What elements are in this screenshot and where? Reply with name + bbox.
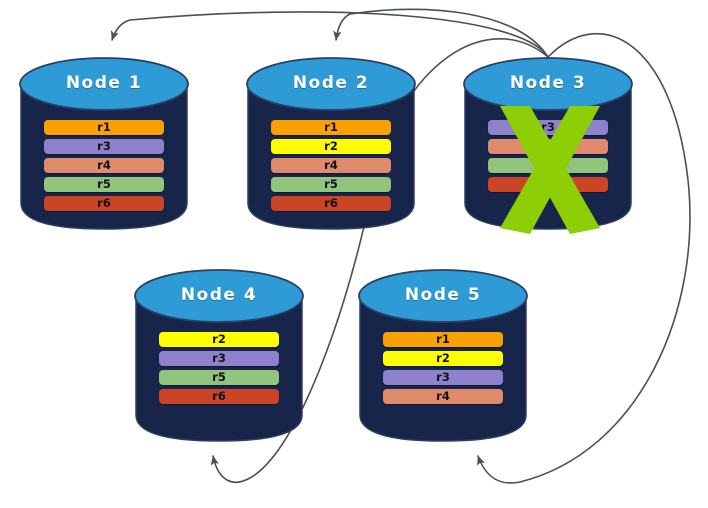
diagram-canvas: Node 1r1r3r4r5r6Node 2r1r2r4r5r6Node 3r3… — [0, 0, 708, 508]
node-3-replica-list: r3r4r5r6 — [462, 120, 634, 196]
node-1[interactable]: Node 1r1r3r4r5r6 — [18, 56, 190, 231]
node-1-replica-list: r1r3r4r5r6 — [18, 120, 190, 215]
node-5[interactable]: Node 5r1r2r3r4 — [357, 268, 529, 443]
node-4-top-disc — [135, 270, 303, 322]
node-2-replica-r2[interactable]: r2 — [271, 139, 391, 154]
edge-node3-to-node1 — [112, 12, 548, 57]
node-2[interactable]: Node 2r1r2r4r5r6 — [245, 56, 417, 231]
node-3-replica-r5[interactable]: r5 — [488, 158, 608, 173]
node-3-replica-r4[interactable]: r4 — [488, 139, 608, 154]
node-3-top-disc — [464, 58, 632, 110]
node-1-replica-r6[interactable]: r6 — [44, 196, 164, 211]
node-3[interactable]: Node 3r3r4r5r6 — [462, 56, 634, 231]
node-2-top-disc — [247, 58, 415, 110]
node-5-top-disc — [359, 270, 527, 322]
node-4-replica-list: r2r3r5r6 — [133, 332, 305, 408]
node-1-replica-r4[interactable]: r4 — [44, 158, 164, 173]
node-5-replica-r3[interactable]: r3 — [383, 370, 503, 385]
node-4-replica-r3[interactable]: r3 — [159, 351, 279, 366]
node-1-replica-r3[interactable]: r3 — [44, 139, 164, 154]
node-4[interactable]: Node 4r2r3r5r6 — [133, 268, 305, 443]
node-1-top-disc — [20, 58, 188, 110]
node-2-replica-r6[interactable]: r6 — [271, 196, 391, 211]
node-2-replica-r5[interactable]: r5 — [271, 177, 391, 192]
node-1-replica-r5[interactable]: r5 — [44, 177, 164, 192]
node-4-replica-r5[interactable]: r5 — [159, 370, 279, 385]
node-3-replica-r3[interactable]: r3 — [488, 120, 608, 135]
node-2-replica-r4[interactable]: r4 — [271, 158, 391, 173]
node-1-replica-r1[interactable]: r1 — [44, 120, 164, 135]
node-5-replica-list: r1r2r3r4 — [357, 332, 529, 408]
node-2-replica-list: r1r2r4r5r6 — [245, 120, 417, 215]
node-4-replica-r2[interactable]: r2 — [159, 332, 279, 347]
node-3-replica-r6[interactable]: r6 — [488, 177, 608, 192]
node-2-replica-r1[interactable]: r1 — [271, 120, 391, 135]
node-5-replica-r1[interactable]: r1 — [383, 332, 503, 347]
node-5-replica-r2[interactable]: r2 — [383, 351, 503, 366]
node-4-replica-r6[interactable]: r6 — [159, 389, 279, 404]
node-5-replica-r4[interactable]: r4 — [383, 389, 503, 404]
edge-node3-to-node2 — [336, 9, 548, 57]
